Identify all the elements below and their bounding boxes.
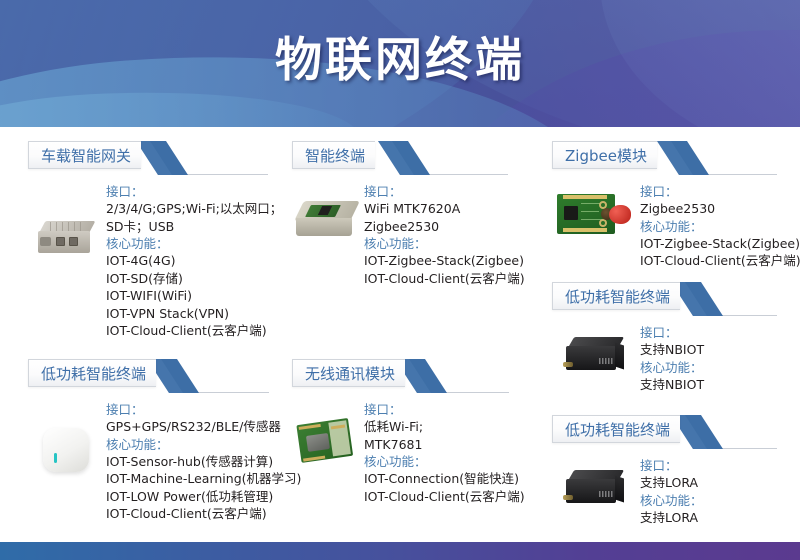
- card-ribbon-header: 低功耗智能终端: [552, 282, 792, 312]
- ribbon-label-box: 低功耗智能终端: [552, 415, 680, 443]
- interface-value: 支持LORA: [640, 474, 792, 492]
- interface-label: 接口：: [106, 183, 283, 200]
- card-specs: 接口： 支持NBIOT 核心功能： 支持NBIOT: [640, 324, 792, 393]
- black-terminal-box-image: [563, 334, 629, 378]
- ribbon-trailing-line: [422, 174, 508, 175]
- card-vehicle-smart-gateway[interactable]: 车载智能网关 接口：: [28, 141, 283, 340]
- interface-value: 低耗Wi-Fi;: [364, 418, 542, 436]
- card-title: 车载智能网关: [41, 145, 131, 166]
- interface-label: 接口：: [640, 457, 792, 474]
- product-thumbnail: [28, 401, 106, 477]
- ribbon-label-box: 低功耗智能终端: [552, 282, 680, 310]
- core-function-label: 核心功能：: [640, 492, 792, 509]
- core-function-value: IOT-Cloud-Client(云客户端): [106, 322, 283, 340]
- card-title: 智能终端: [305, 145, 365, 166]
- card-ribbon-header: 低功耗智能终端: [28, 359, 283, 389]
- interface-label: 接口：: [106, 401, 301, 418]
- ribbon-trailing-line: [715, 448, 777, 449]
- content-area: 车载智能网关 接口：: [0, 127, 800, 542]
- interface-value: SD卡；USB: [106, 218, 283, 236]
- card-body: 接口： WiFi MTK7620A Zigbee2530 核心功能： IOT-Z…: [292, 183, 542, 287]
- product-thumbnail: [552, 183, 640, 237]
- card-smart-terminal[interactable]: 智能终端 接口： WiFi MTK7620A Zigbee2530 核心功能: [292, 141, 542, 287]
- core-function-label: 核心功能：: [364, 235, 542, 252]
- page-header-banner: 物联网终端: [0, 0, 800, 127]
- core-function-value: IOT-Connection(智能快连): [364, 470, 542, 488]
- interface-value: Zigbee2530: [640, 200, 800, 218]
- card-zigbee-module[interactable]: Zigbee模块: [552, 141, 792, 270]
- product-thumbnail: [28, 183, 106, 263]
- interface-value: 支持NBIOT: [640, 341, 792, 359]
- core-function-value: IOT-4G(4G): [106, 252, 283, 270]
- core-function-value: IOT-SD(存储): [106, 270, 283, 288]
- interface-label: 接口：: [640, 324, 792, 341]
- core-function-label: 核心功能：: [364, 453, 542, 470]
- card-title: 低功耗智能终端: [565, 286, 670, 307]
- card-specs: 接口： 支持LORA 核心功能： 支持LORA: [640, 457, 792, 526]
- green-wifi-module-image: [294, 413, 362, 471]
- ribbon-trailing-line: [439, 392, 509, 393]
- core-function-label: 核心功能：: [106, 436, 301, 453]
- ribbon-label-box: 无线通讯模块: [292, 359, 405, 387]
- core-function-value: IOT-Sensor-hub(传感器计算): [106, 453, 301, 471]
- core-function-label: 核心功能：: [640, 359, 792, 376]
- card-specs: 接口： 低耗Wi-Fi; MTK7681 核心功能： IOT-Connectio…: [364, 401, 542, 505]
- ribbon-chevron-icon: [378, 141, 430, 175]
- ribbon-chevron-icon: [657, 141, 709, 175]
- card-ribbon-header: 无线通讯模块: [292, 359, 542, 389]
- card-body: 接口： Zigbee2530 核心功能： IOT-Zigbee-Stack(Zi…: [552, 183, 792, 270]
- core-function-value: IOT-VPN Stack(VPN): [106, 305, 283, 323]
- card-title: 低功耗智能终端: [565, 419, 670, 440]
- ribbon-label-box: Zigbee模块: [552, 141, 657, 169]
- product-thumbnail: [292, 401, 364, 467]
- interface-value: GPS+GPS/RS232/BLE/传感器: [106, 418, 301, 436]
- core-function-value: IOT-LOW Power(低功耗管理): [106, 488, 301, 506]
- core-function-value: IOT-Zigbee-Stack(Zigbee): [640, 235, 800, 253]
- ribbon-label-box: 智能终端: [292, 141, 375, 169]
- interface-label: 接口：: [364, 401, 542, 418]
- ribbon-trailing-line: [191, 392, 269, 393]
- green-pcb-red-antenna-image: [557, 191, 635, 237]
- ribbon-label-box: 低功耗智能终端: [28, 359, 156, 387]
- card-ribbon-header: 车载智能网关: [28, 141, 283, 171]
- card-body: 接口： 支持LORA 核心功能： 支持LORA: [552, 457, 792, 526]
- core-function-value: IOT-Cloud-Client(云客户端): [106, 505, 301, 523]
- page-title: 物联网终端: [0, 30, 800, 92]
- card-body: 接口： 2/3/4/G;GPS;Wi-Fi;以太网口； SD卡；USB 核心功能…: [28, 183, 283, 340]
- core-function-label: 核心功能：: [106, 235, 283, 252]
- interface-value: 2/3/4/G;GPS;Wi-Fi;以太网口；: [106, 200, 283, 218]
- beige-enclosure-board-image: [295, 199, 361, 243]
- black-terminal-box-image: [563, 467, 629, 511]
- card-wireless-comm-module[interactable]: 无线通讯模块 接口： 低耗Wi-Fi; MTK7: [292, 359, 542, 505]
- product-thumbnail: [292, 183, 364, 243]
- white-sensor-hub-image: [41, 425, 93, 477]
- card-specs: 接口： 2/3/4/G;GPS;Wi-Fi;以太网口； SD卡；USB 核心功能…: [106, 183, 283, 340]
- card-specs: 接口： Zigbee2530 核心功能： IOT-Zigbee-Stack(Zi…: [640, 183, 800, 270]
- card-body: 接口： 支持NBIOT 核心功能： 支持NBIOT: [552, 324, 792, 393]
- ribbon-trailing-line: [715, 315, 777, 316]
- ribbon-chevron-icon: [136, 141, 188, 175]
- core-function-label: 核心功能：: [640, 218, 800, 235]
- card-ribbon-header: 低功耗智能终端: [552, 415, 792, 445]
- card-ribbon-header: Zigbee模块: [552, 141, 792, 171]
- card-title: Zigbee模块: [565, 145, 647, 166]
- card-low-power-terminal-lora[interactable]: 低功耗智能终端 接口： 支持LORA 核心功能： 支持: [552, 415, 792, 526]
- core-function-value: 支持NBIOT: [640, 376, 792, 394]
- card-title: 低功耗智能终端: [41, 363, 146, 384]
- core-function-value: IOT-WIFI(WiFi): [106, 287, 283, 305]
- core-function-value: IOT-Cloud-Client(云客户端): [640, 252, 800, 270]
- card-body: 接口： 低耗Wi-Fi; MTK7681 核心功能： IOT-Connectio…: [292, 401, 542, 505]
- interface-value: MTK7681: [364, 436, 542, 454]
- interface-label: 接口：: [640, 183, 800, 200]
- ribbon-label-box: 车载智能网关: [28, 141, 141, 169]
- card-low-power-terminal-nbiot[interactable]: 低功耗智能终端 接口： 支持NBIOT 核心功能： 支: [552, 282, 792, 393]
- ribbon-trailing-line: [180, 174, 268, 175]
- core-function-value: IOT-Machine-Learning(机器学习): [106, 470, 301, 488]
- footer-bar: [0, 542, 800, 560]
- core-function-value: IOT-Zigbee-Stack(Zigbee): [364, 252, 542, 270]
- card-title: 无线通讯模块: [305, 363, 395, 384]
- product-thumbnail: [552, 457, 640, 511]
- card-low-power-terminal-sensor[interactable]: 低功耗智能终端 接口： GPS+GPS/RS232/BLE/传感器 核心功能： …: [28, 359, 283, 523]
- silver-gateway-image: [36, 217, 98, 263]
- interface-value: WiFi MTK7620A: [364, 200, 542, 218]
- card-ribbon-header: 智能终端: [292, 141, 542, 171]
- card-specs: 接口： GPS+GPS/RS232/BLE/传感器 核心功能： IOT-Sens…: [106, 401, 301, 523]
- core-function-value: IOT-Cloud-Client(云客户端): [364, 488, 542, 506]
- card-specs: 接口： WiFi MTK7620A Zigbee2530 核心功能： IOT-Z…: [364, 183, 542, 287]
- product-thumbnail: [552, 324, 640, 378]
- core-function-value: IOT-Cloud-Client(云客户端): [364, 270, 542, 288]
- core-function-value: 支持LORA: [640, 509, 792, 527]
- interface-label: 接口：: [364, 183, 542, 200]
- ribbon-trailing-line: [701, 174, 777, 175]
- interface-value: Zigbee2530: [364, 218, 542, 236]
- card-body: 接口： GPS+GPS/RS232/BLE/传感器 核心功能： IOT-Sens…: [28, 401, 283, 523]
